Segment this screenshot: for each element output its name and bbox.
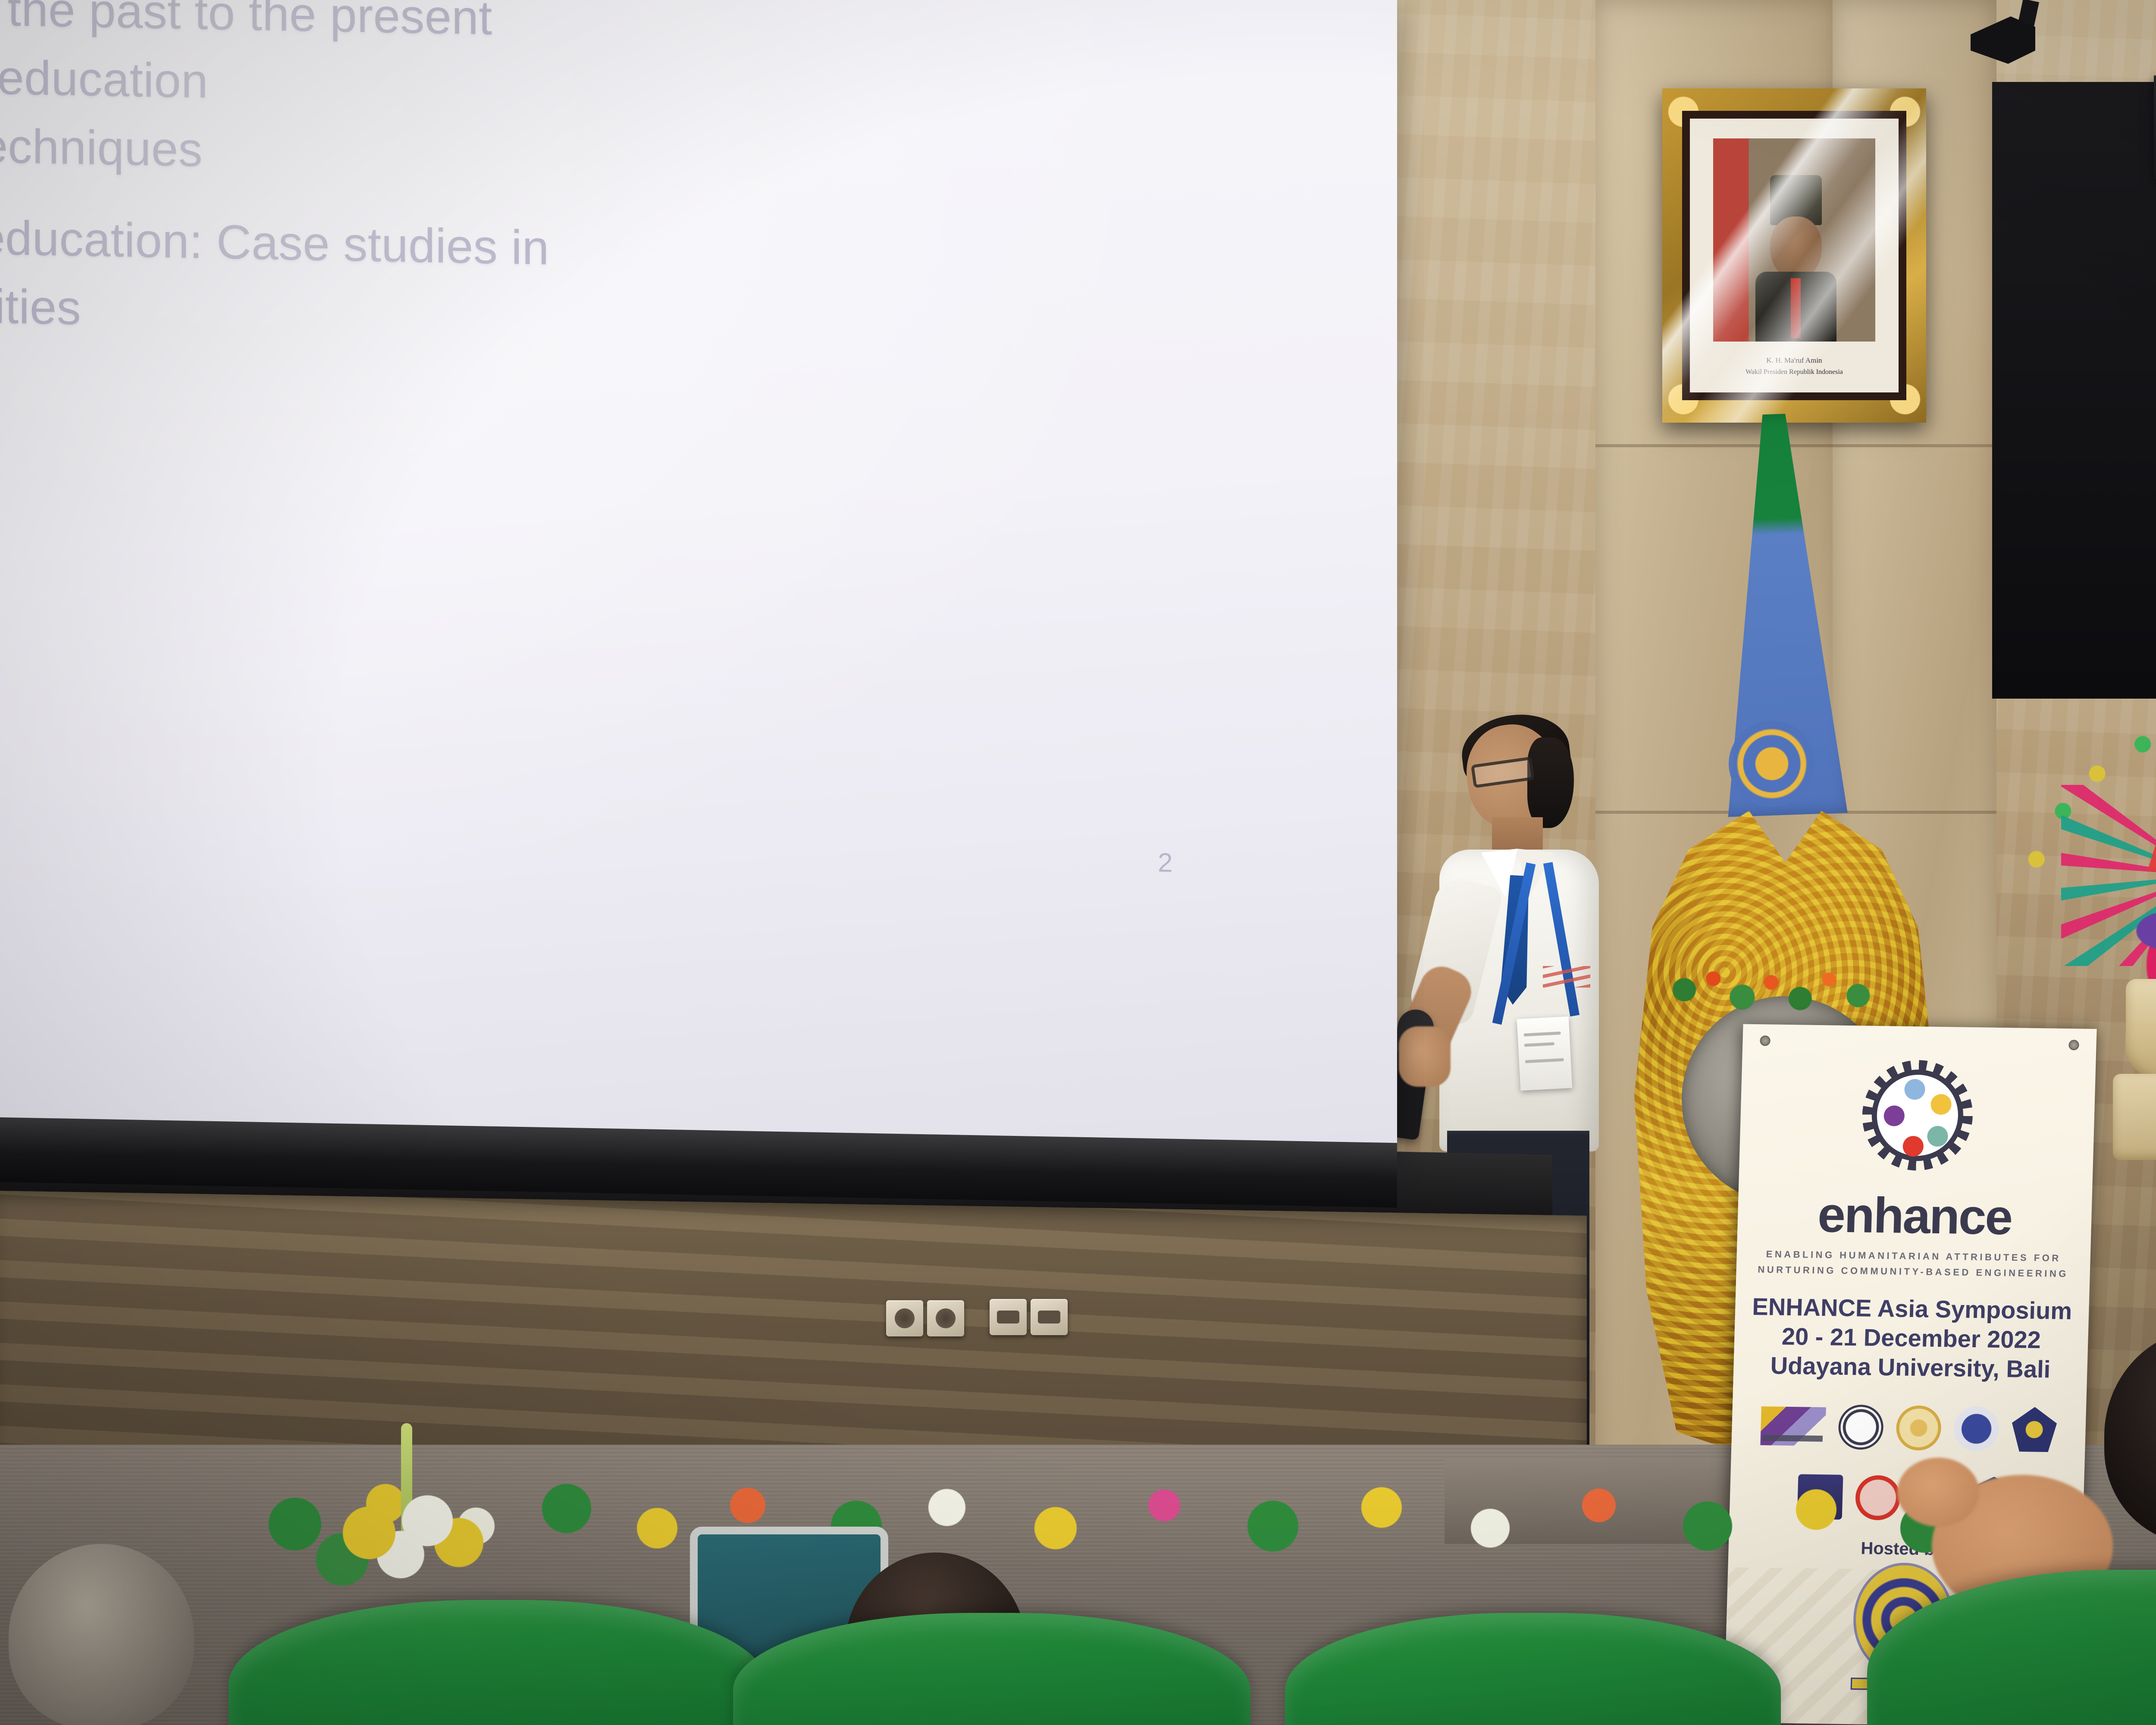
presenter-hair-back [1527,737,1574,828]
university-flag [1703,412,1859,818]
banner-grommet-right [2068,1040,2079,1050]
university-seal-gold-star-icon [1896,1405,1942,1450]
shirt-pocket-stripes [1543,966,1590,988]
enhance-logo-icon [1861,1059,1974,1171]
warwick-logo-icon [1760,1406,1826,1446]
conference-photo-scene: K. H. Ma'ruf Amin Wakil Presiden Republi… [0,0,2156,1725]
university-seal-blue-oval-icon [1953,1406,1999,1451]
portrait-tie [1791,278,1801,338]
flower-arrangement [302,1475,526,1596]
slide-text-block: om the past to the present for education… [0,0,1307,365]
spotlight-head [1971,16,2035,64]
frame-inner: K. H. Ma'ruf Amin Wakil Presiden Republi… [1682,111,1906,400]
enhance-tagline-2: NURTURING COMMUNITY-BASED ENGINEERING [1736,1264,2090,1280]
presenter-hand [1399,1026,1451,1087]
event-venue: Udayana University, Bali [1733,1351,2088,1383]
banner-grommet-left [1760,1035,1771,1046]
light-switch-1 [990,1299,1027,1335]
framed-portrait: K. H. Ma'ruf Amin Wakil Presiden Republi… [1662,88,1926,423]
enhance-wordmark: enhance [1737,1184,2092,1247]
university-seal-circle-1-icon [1838,1404,1884,1449]
projection-screen: om the past to the present for education… [0,0,1397,1151]
badge-line-1 [1523,1032,1561,1036]
stage-flower-border [259,1462,2070,1565]
name-badge [1517,1016,1573,1091]
university-seal-blue-pentagon-icon [2011,1407,2057,1452]
flower-garland [1660,953,1902,1026]
portrait-figure [1755,175,1836,342]
portrait-role: Wakil Presiden Republik Indonesia [1690,368,1899,376]
gebogan-vase-lower [2113,1074,2156,1160]
light-switch-2 [1031,1299,1068,1335]
badge-line-2 [1524,1042,1554,1047]
power-outlet-1 [886,1300,923,1336]
portrait-name: K. H. Ma'ruf Amin [1690,356,1899,365]
bose-speaker-icon [2154,75,2156,179]
dark-doorway [1992,82,2156,699]
portrait-face [1770,216,1822,280]
audience-hand-right [1897,1458,1979,1527]
audience-head-grey [9,1544,194,1725]
event-dates: 20 - 21 December 2022 [1734,1321,2089,1354]
badge-line-3 [1525,1058,1564,1063]
portrait-photo [1713,138,1875,342]
portrait-mat: K. H. Ma'ruf Amin Wakil Presiden Republi… [1690,119,1899,392]
power-outlet-2 [927,1300,964,1336]
enhance-tagline-1: ENABLING HUMANITARIAN ATTRIBUTES FOR [1736,1248,2090,1264]
spotlight-icon [1966,0,2074,78]
event-title: ENHANCE Asia Symposium [1735,1292,2089,1325]
slide-page-number: 2 [1158,847,1172,878]
